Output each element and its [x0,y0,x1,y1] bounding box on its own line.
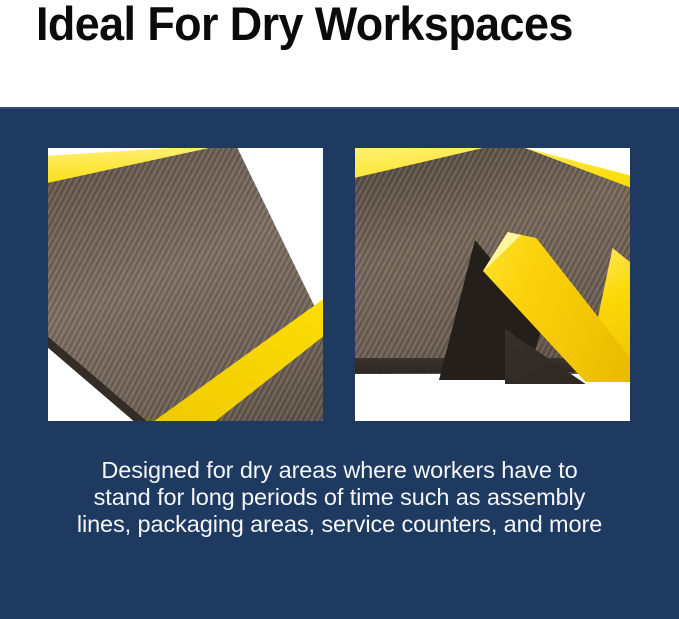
header-band: Ideal For Dry Workspaces [0,0,679,107]
image-gallery [48,148,630,421]
caption-line-2: stand for long periods of time such as a… [54,484,625,511]
product-photo-2-canvas [355,148,630,421]
page-title: Ideal For Dry Workspaces [36,0,573,50]
panel-top-divider [0,107,679,109]
caption-block: Designed for dry areas where workers hav… [0,457,679,538]
product-photo-2[interactable] [355,148,630,421]
product-photo-1[interactable] [48,148,323,421]
caption-line-3: lines, packaging areas, service counters… [54,511,625,538]
navy-content-panel: Designed for dry areas where workers hav… [0,107,679,619]
product-feature-card: Ideal For Dry Workspaces [0,0,679,619]
product-photo-1-canvas [48,148,323,421]
caption-line-1: Designed for dry areas where workers hav… [54,457,625,484]
